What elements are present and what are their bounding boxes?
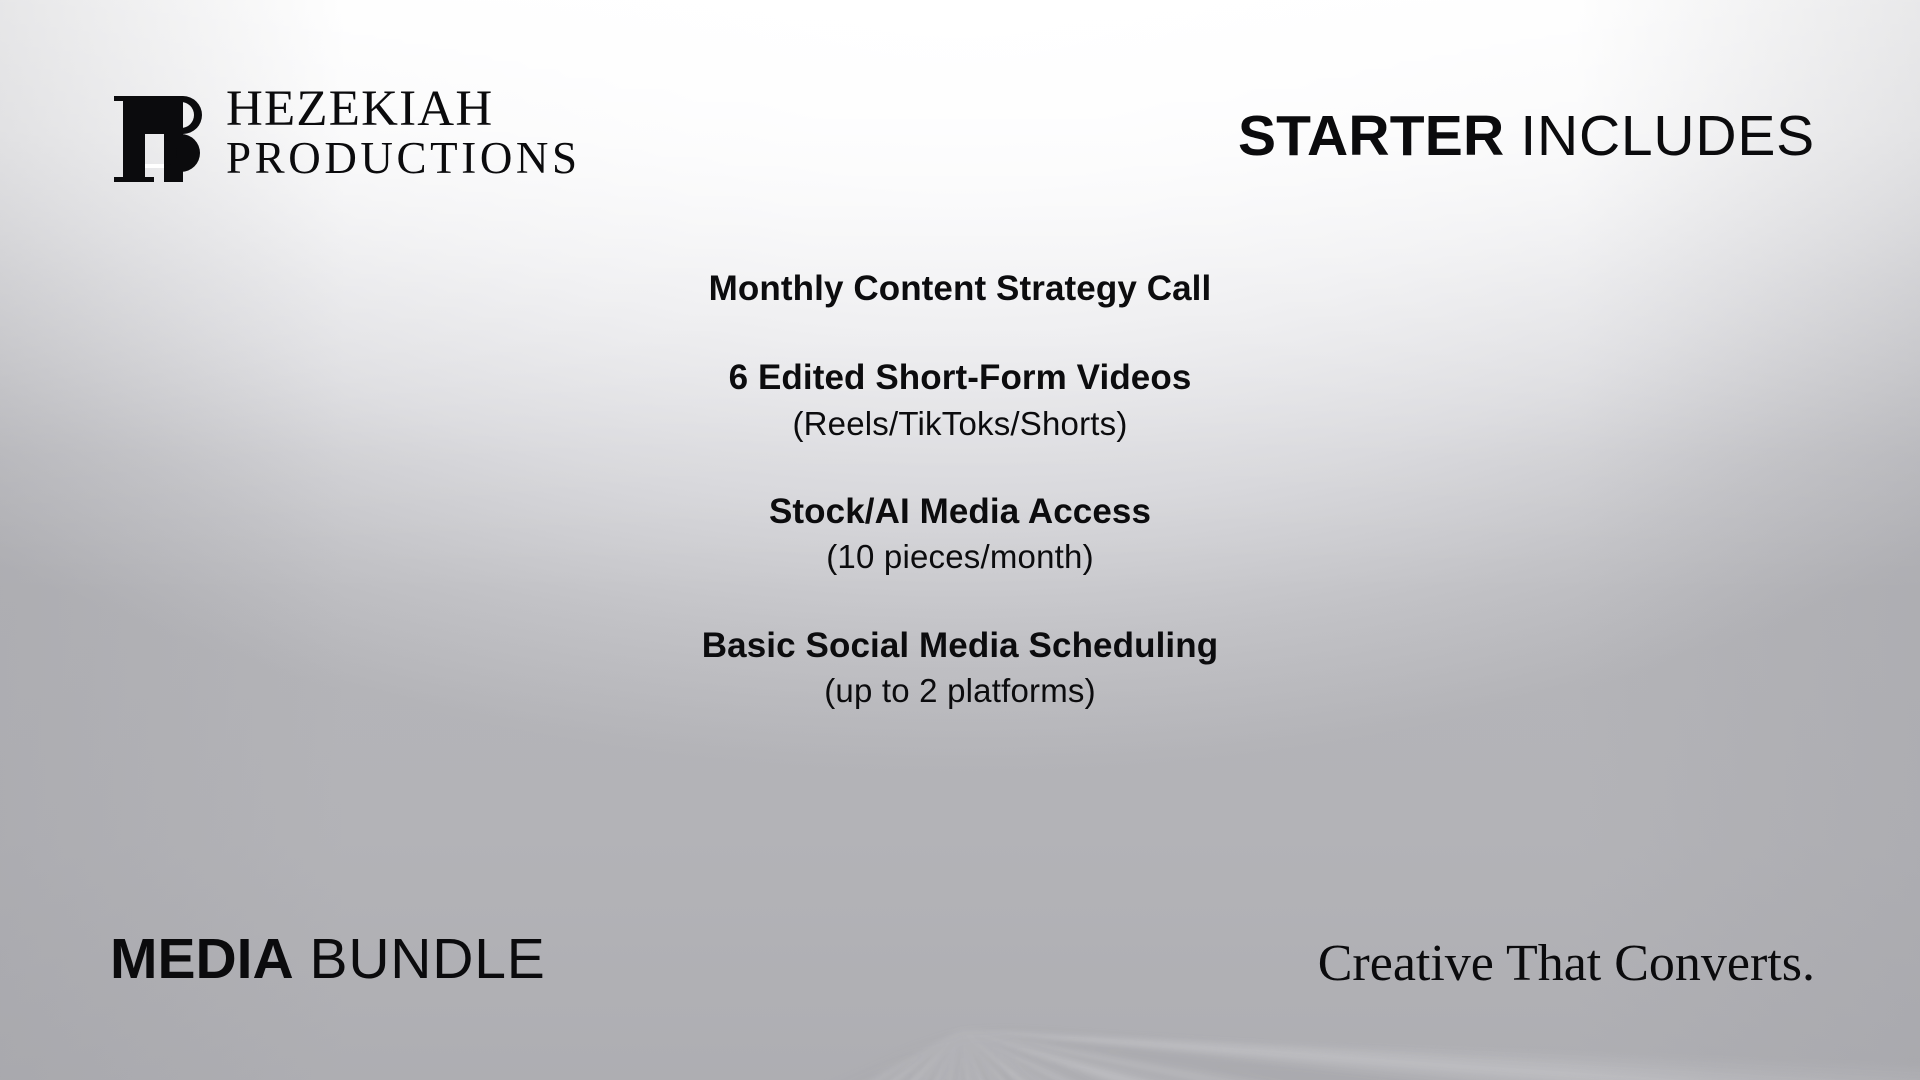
bundle-label-strong: MEDIA [110,927,294,991]
feature-subtitle: (Reels/TikToks/Shorts) [0,404,1920,444]
feature-item: 6 Edited Short-Form Videos (Reels/TikTok… [0,357,1920,443]
feature-title: 6 Edited Short-Form Videos [0,357,1920,398]
brand-wordmark-line1: HEZEKIAH [226,86,581,134]
plan-title: STARTER INCLUDES [1238,108,1815,165]
brand-tagline: Creative That Converts. [1318,938,1815,990]
slide-canvas: HEZEKIAH PRODUCTIONS STARTER INCLUDES Mo… [0,0,1920,1080]
feature-title: Monthly Content Strategy Call [0,268,1920,309]
plan-title-tier: STARTER [1238,104,1504,168]
feature-list: Monthly Content Strategy Call 6 Edited S… [0,268,1920,711]
bundle-label: MEDIA BUNDLE [110,931,546,988]
feature-item: Stock/AI Media Access (10 pieces/month) [0,491,1920,577]
brand-wordmark-line2: PRODUCTIONS [226,136,581,182]
brand-wordmark: HEZEKIAH PRODUCTIONS [226,86,581,182]
plan-title-suffix: INCLUDES [1520,104,1815,168]
brand-logo-lockup: HEZEKIAH PRODUCTIONS [112,86,581,188]
content-layer: HEZEKIAH PRODUCTIONS STARTER INCLUDES Mo… [0,0,1920,1080]
bundle-label-light: BUNDLE [310,927,546,991]
hp-monogram-icon [112,90,212,188]
feature-title: Basic Social Media Scheduling [0,625,1920,666]
feature-subtitle: (up to 2 platforms) [0,671,1920,711]
feature-title: Stock/AI Media Access [0,491,1920,532]
feature-item: Basic Social Media Scheduling (up to 2 p… [0,625,1920,711]
feature-subtitle: (10 pieces/month) [0,537,1920,577]
feature-item: Monthly Content Strategy Call [0,268,1920,309]
